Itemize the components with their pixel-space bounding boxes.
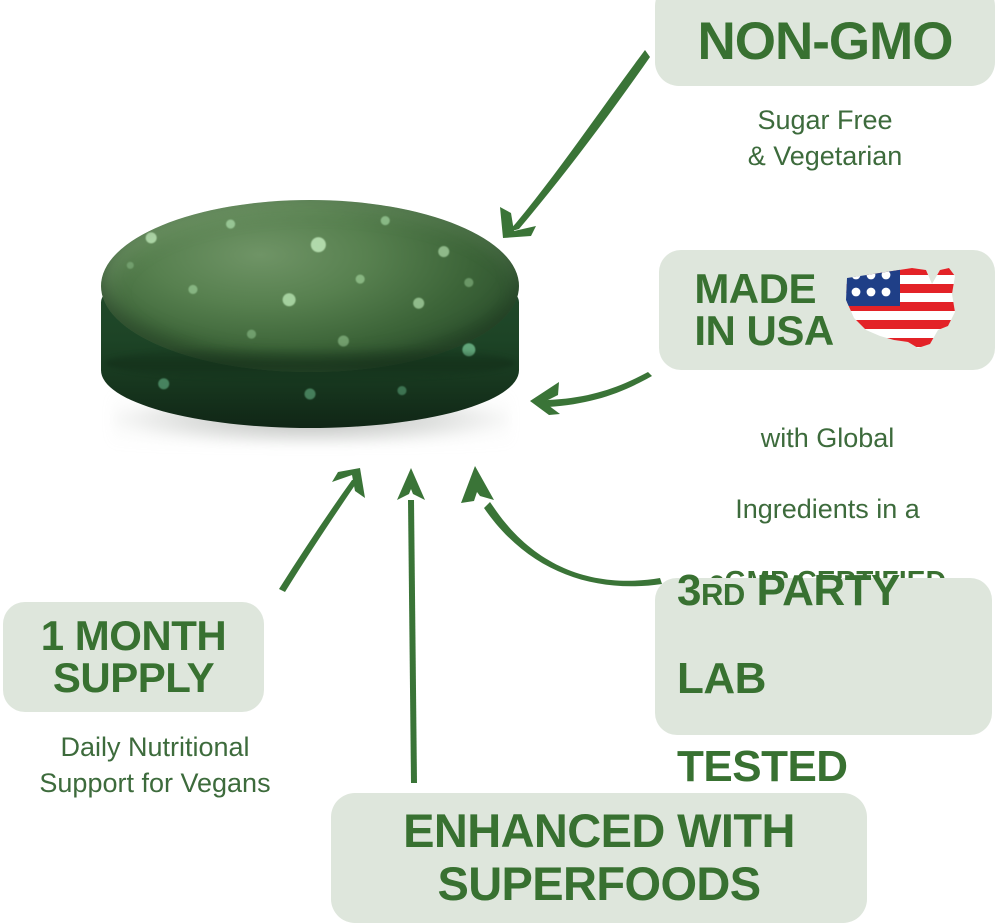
badge-third-party-line3: TESTED (677, 742, 848, 791)
tablet-body (95, 196, 525, 446)
caption-non-gmo: Sugar Free & Vegetarian (665, 103, 985, 174)
badge-third-party-word: PARTY (745, 566, 900, 615)
badge-made-in-usa[interactable]: MADE IN USA (659, 250, 995, 370)
infographic-canvas: NON-GMO Sugar Free & Vegetarian MADE IN … (0, 0, 999, 923)
badge-superfoods-label: ENHANCED WITH SUPERFOODS (403, 805, 795, 910)
badge-non-gmo-label: NON-GMO (697, 1, 952, 68)
badge-third-party-ordinal: RD (701, 577, 745, 612)
badge-made-in-usa-label: MADE IN USA (694, 268, 833, 352)
badge-enhanced-with-superfoods[interactable]: ENHANCED WITH SUPERFOODS (331, 793, 867, 923)
badge-non-gmo[interactable]: NON-GMO (655, 0, 995, 86)
product-tablet-image (95, 196, 525, 461)
arrow-to-tablet-from-third-party (461, 466, 662, 586)
arrow-to-tablet-from-made-usa (530, 372, 652, 415)
badge-third-party-lab-tested[interactable]: 3RD PARTY LAB TESTED (655, 578, 992, 735)
badge-third-party-number: 3 (677, 566, 701, 615)
arrow-to-tablet-from-one-month (279, 468, 365, 592)
badge-third-party-line2: LAB (677, 654, 766, 703)
caption-made-in-usa-line1: with Global (660, 421, 995, 457)
caption-one-month-supply: Daily Nutritional Support for Vegans (0, 730, 310, 801)
tablet-seam (105, 346, 515, 380)
caption-made-in-usa-line2: Ingredients in a (660, 492, 995, 528)
badge-one-month-supply-label: 1 MONTH SUPPLY (41, 615, 227, 699)
arrow-to-tablet-from-superfoods (397, 468, 425, 783)
badge-third-party-label: 3RD PARTY LAB TESTED (655, 525, 992, 789)
usa-flag-map-icon (842, 260, 960, 360)
badge-one-month-supply[interactable]: 1 MONTH SUPPLY (3, 602, 264, 712)
